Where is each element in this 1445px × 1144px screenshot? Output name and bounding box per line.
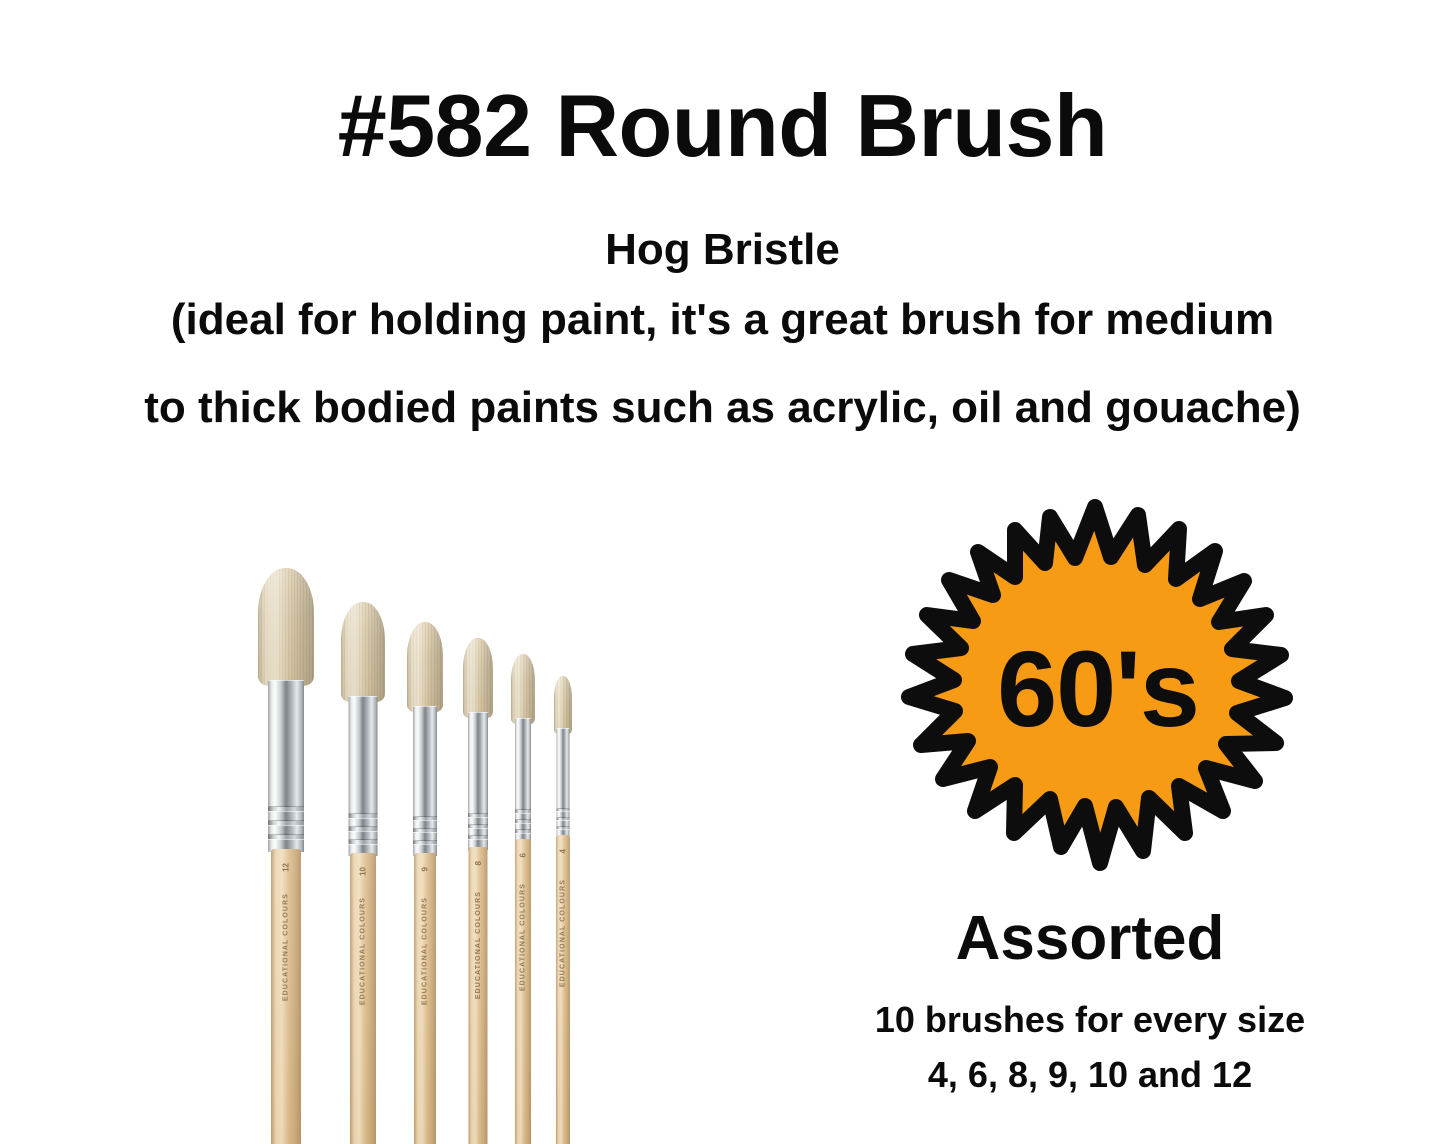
product-description-line-1: (ideal for holding paint, it's a great b… [0,298,1445,342]
paint-brush: 12EDUCATIONAL COLOURS [246,550,326,1144]
ferrule-crimp-ring [413,829,437,832]
ferrule-crimp-ring [413,817,437,820]
ferrule-crimp-ring [268,821,304,825]
ferrule-crimp-ring [349,840,378,844]
brush-handle: 12EDUCATIONAL COLOURS [271,849,301,1144]
product-description-line-2: to thick bodied paints such as acrylic, … [0,386,1445,430]
quantity-starburst-badge: 60's [895,495,1295,875]
assorted-detail-line-1: 10 brushes for every size [845,1002,1335,1038]
assorted-detail-line-2: 4, 6, 8, 9, 10 and 12 [845,1057,1335,1093]
paint-brush: 4EDUCATIONAL COLOURS [523,550,603,1144]
brush-ferrule [349,696,378,856]
page-title: #582 Round Brush [0,82,1445,170]
brush-handle: 9EDUCATIONAL COLOURS [414,853,436,1144]
ferrule-crimp-ring [268,835,304,839]
ferrule-crimp-ring [557,818,570,820]
brush-handle: 4EDUCATIONAL COLOURS [556,835,570,1144]
handle-brand-text: EDUCATIONAL COLOURS [560,879,567,987]
assorted-heading: Assorted [845,908,1335,970]
ferrule-crimp-ring [268,807,304,811]
brush-handle: 10EDUCATIONAL COLOURS [350,853,376,1144]
product-subtitle: Hog Bristle [0,228,1445,272]
brush-ferrule [268,680,304,852]
product-image-canvas: #582 Round Brush Hog Bristle (ideal for … [0,0,1445,1144]
ferrule-crimp-ring [349,827,378,831]
brush-size-number: 9 [421,867,430,871]
brush-set-photo: 12EDUCATIONAL COLOURS10EDUCATIONAL COLOU… [250,550,620,1144]
ferrule-crimp-ring [413,841,437,844]
handle-brand-text: EDUCATIONAL COLOURS [360,897,367,1005]
handle-brand-text: EDUCATIONAL COLOURS [475,891,482,999]
ferrule-crimp-ring [557,827,570,829]
handle-brand-text: EDUCATIONAL COLOURS [283,893,290,1001]
brush-size-number: 4 [559,849,568,853]
starburst-icon [895,495,1295,875]
brush-size-number: 12 [282,863,291,872]
ferrule-crimp-ring [557,809,570,811]
brush-ferrule [557,728,570,838]
ferrule-crimp-ring [349,814,378,818]
brush-size-number: 10 [359,867,368,876]
brush-bristles [341,602,385,702]
brush-size-number: 8 [474,861,483,865]
brush-bristles [258,568,314,686]
brush-bristles [554,676,572,734]
handle-brand-text: EDUCATIONAL COLOURS [422,897,429,1005]
brush-ferrule [413,706,437,856]
starburst-shape [909,507,1285,863]
